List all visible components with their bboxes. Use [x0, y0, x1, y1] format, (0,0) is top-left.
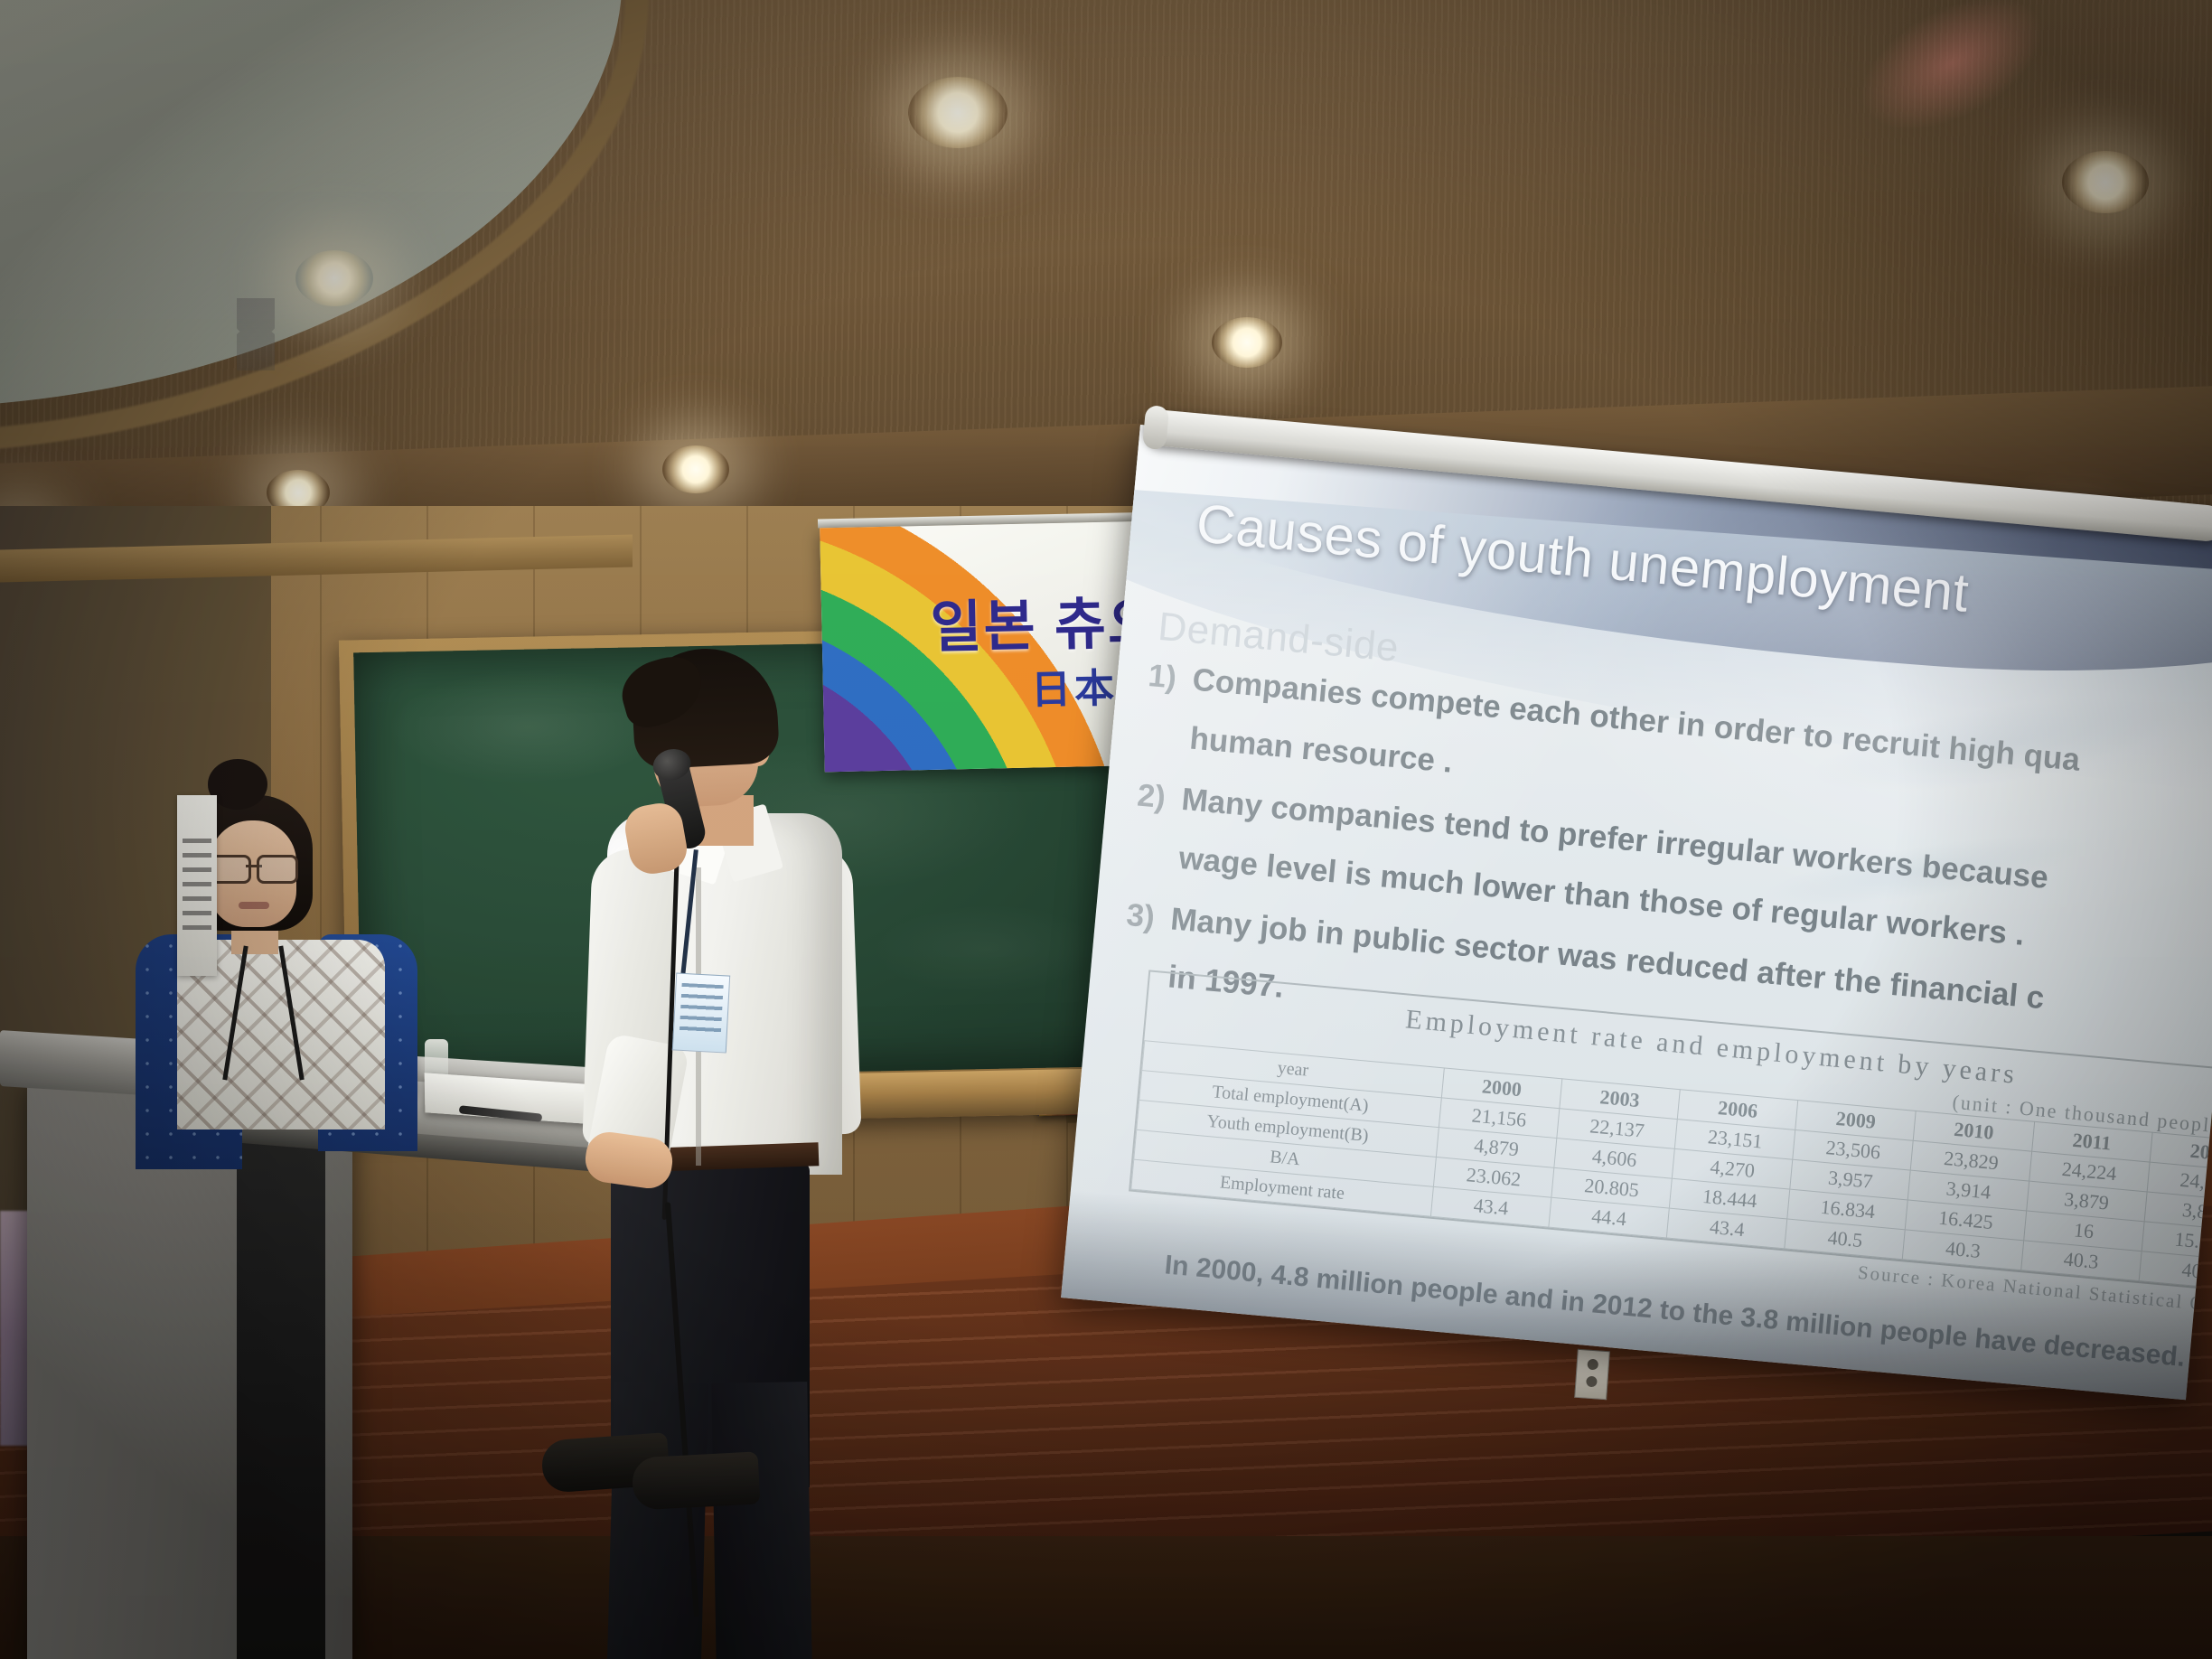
projection-screen: Causes of youth unemployment Demand-side… [1061, 425, 2212, 1400]
downlight-icon [2062, 151, 2149, 213]
presenter-name-badge [672, 972, 730, 1053]
lectern-emblem [237, 298, 275, 370]
photograph-scene: 일본 츄오 日本 中 Causes of youth unemployment … [0, 0, 2212, 1659]
podium-presenter-mouth [239, 902, 269, 909]
bullet-number-2: 2) [1136, 779, 1167, 814]
eyeglasses-icon [210, 855, 298, 880]
screen-housing-cap [1142, 405, 1169, 450]
presenter-right-shoe [632, 1451, 761, 1510]
presenter-right-leg [711, 1382, 811, 1659]
downlight-icon [1212, 317, 1282, 368]
lectern-front-panel [237, 1075, 325, 1659]
presentation-slide: Causes of youth unemployment Demand-side… [1061, 425, 2212, 1400]
bullet-number-3: 3) [1125, 898, 1156, 933]
downlight-icon [295, 250, 373, 306]
wall-poster [177, 795, 217, 976]
downlight-icon [908, 77, 1008, 148]
power-outlet-icon [1574, 1349, 1610, 1400]
downlight-icon [662, 445, 729, 493]
presenter-left-leg [607, 1382, 708, 1659]
bullet-number-1: 1) [1147, 660, 1177, 695]
